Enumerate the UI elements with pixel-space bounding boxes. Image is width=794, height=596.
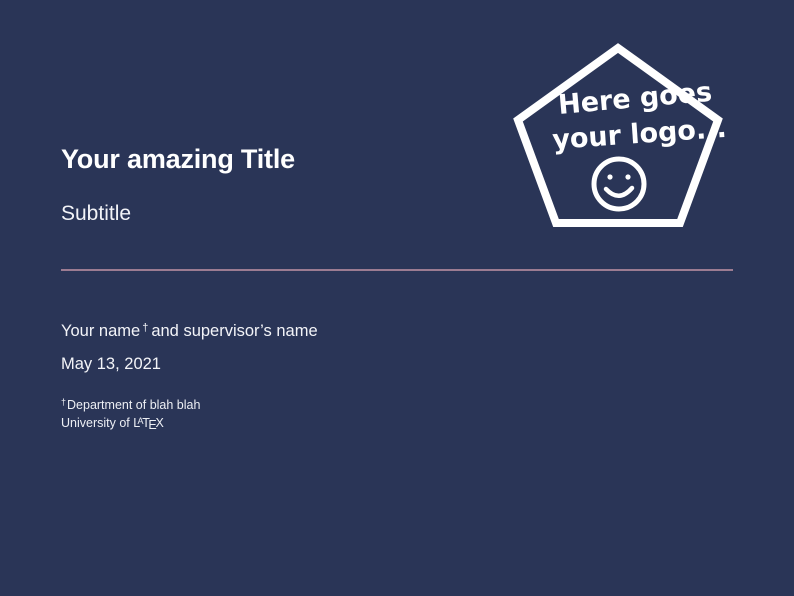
latex-wordmark: LATEX bbox=[133, 415, 164, 435]
logo-placeholder: Here goes your logo... bbox=[505, 36, 733, 236]
university-prefix: University of bbox=[61, 416, 133, 430]
department-name: Department of blah blah bbox=[67, 398, 200, 412]
author-name: Your name bbox=[61, 322, 140, 340]
university-line: University of LATEX bbox=[61, 415, 481, 435]
page-title: Your amazing Title bbox=[61, 144, 491, 175]
supervisor-name: and supervisor’s name bbox=[151, 322, 317, 340]
title-block: Your amazing Title Subtitle bbox=[61, 144, 491, 226]
institute-block: †Department of blah blah University of L… bbox=[61, 396, 481, 435]
department-line: †Department of blah blah bbox=[61, 396, 481, 415]
latex-letter-x: X bbox=[156, 416, 164, 430]
smiley-face-icon bbox=[594, 159, 644, 209]
divider-rule bbox=[61, 269, 733, 271]
date-line: May 13, 2021 bbox=[61, 355, 561, 374]
author-line: Your name†and supervisor’s name bbox=[61, 321, 561, 342]
logo-caption-line-1: Here goes bbox=[557, 77, 713, 121]
author-block: Your name†and supervisor’s name May 13, … bbox=[61, 321, 561, 374]
page-subtitle: Subtitle bbox=[61, 201, 491, 226]
title-slide: Your amazing Title Subtitle Your name†an… bbox=[0, 0, 794, 596]
author-dagger-marker: † bbox=[140, 322, 151, 334]
